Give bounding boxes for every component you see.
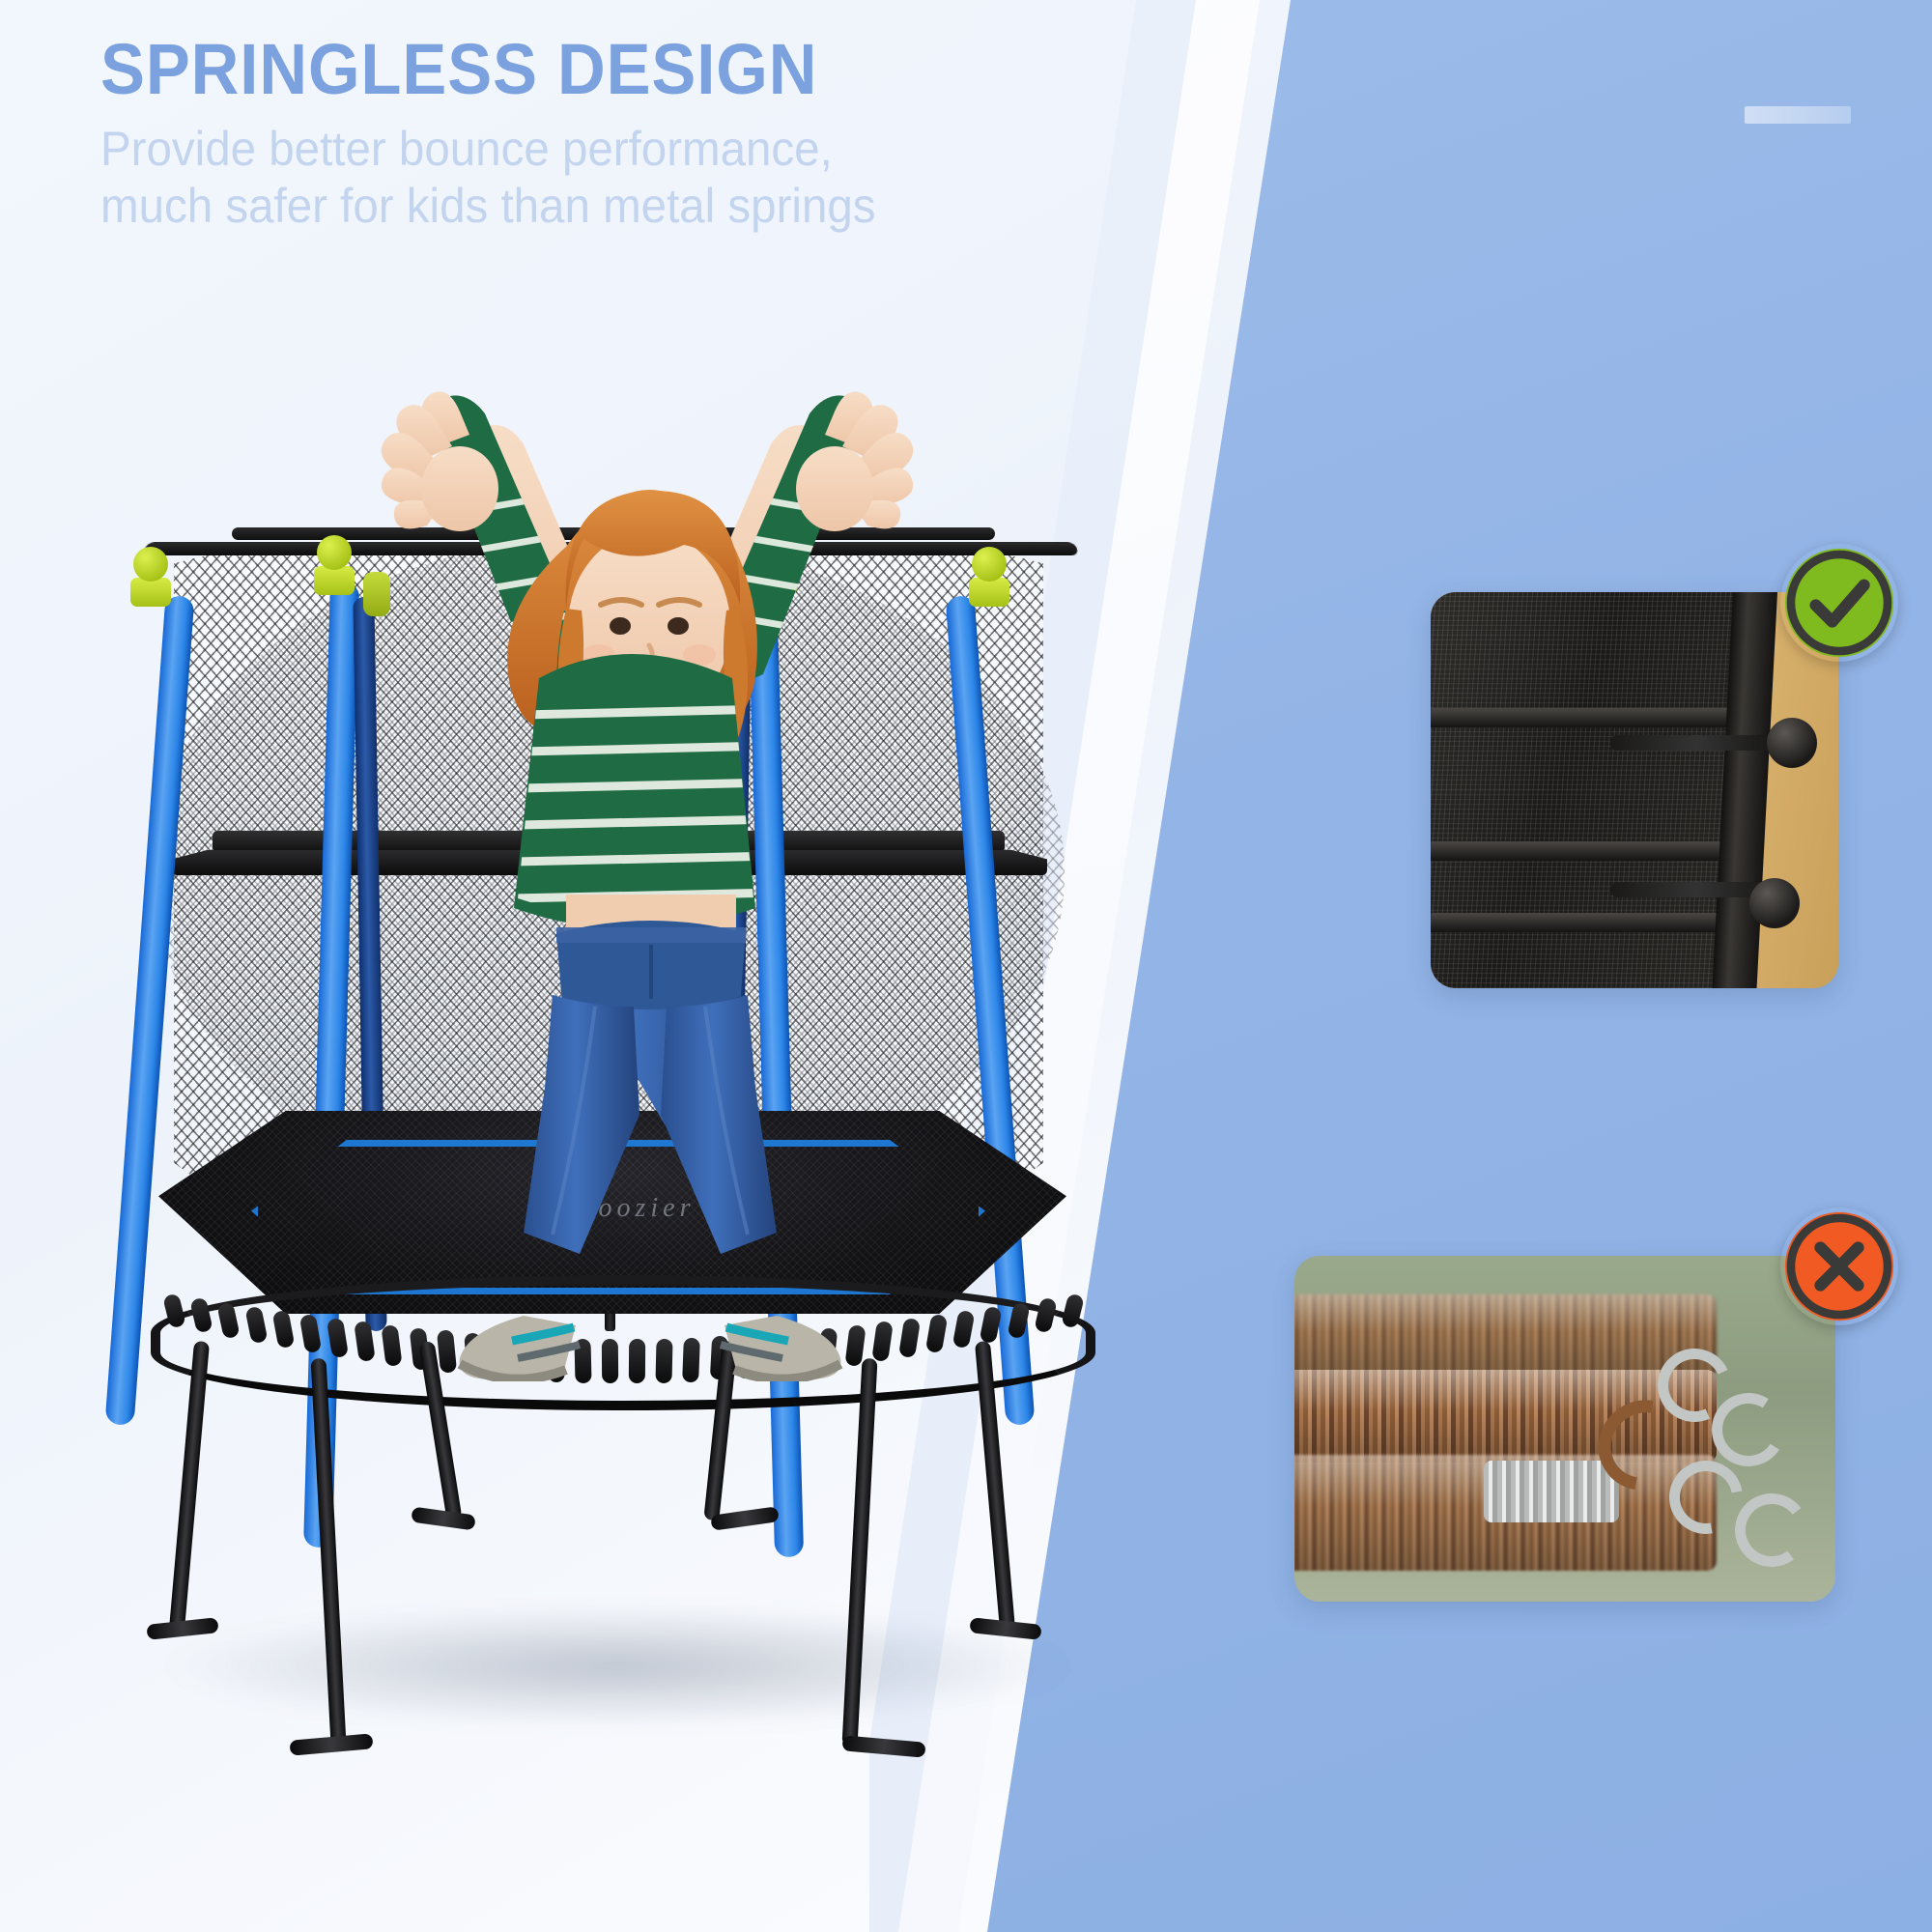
inset-bad-spring-row-1	[1294, 1294, 1717, 1378]
bungee-cord	[189, 1297, 213, 1334]
cross-badge	[1780, 1207, 1898, 1325]
inset-photo-good-artwork	[1431, 592, 1838, 988]
inset-good-mesh-fold-3	[1431, 913, 1757, 932]
bungee-cord	[244, 1306, 268, 1345]
child-model-jumping	[377, 319, 918, 1381]
child-right-shoe	[721, 1316, 840, 1379]
leg-2-foot	[289, 1733, 373, 1755]
check-icon	[1780, 544, 1898, 662]
bungee-cord	[952, 1310, 976, 1350]
inset-photo-springless-attachment	[1431, 592, 1838, 988]
inset-bad-silver-spring	[1484, 1461, 1619, 1522]
bungee-cord	[980, 1306, 1003, 1345]
child-left-shoe	[460, 1316, 580, 1379]
inset-good-mesh-fold-1	[1431, 708, 1757, 727]
pole-collar-1	[130, 578, 171, 607]
bungee-cord	[925, 1314, 948, 1354]
pole-collar-2	[314, 566, 355, 595]
subtitle-line-1: Provide better bounce performance,	[100, 121, 1248, 178]
inset-photo-rusty-springs	[1294, 1256, 1835, 1602]
leg-3-foot	[411, 1506, 476, 1530]
check-badge	[1780, 544, 1898, 662]
bungee-cord	[327, 1318, 349, 1359]
child-jeans	[524, 921, 777, 1254]
accent-dash-decoration	[1745, 106, 1851, 124]
pole-cap-ball-4	[972, 547, 1007, 582]
leg-5-foot	[841, 1735, 925, 1757]
page-title: SPRINGLESS DESIGN	[100, 33, 1224, 107]
bungee-cord	[1034, 1297, 1058, 1334]
inset-photo-bad-artwork	[1294, 1256, 1835, 1602]
bungee-cord	[162, 1293, 186, 1328]
header-block: SPRINGLESS DESIGN Provide better bounce …	[100, 33, 1308, 235]
inset-good-bungee-cord-1	[1610, 735, 1784, 751]
bungee-cord	[217, 1301, 241, 1339]
inset-good-ball-stopper-1	[1767, 718, 1817, 768]
cross-icon	[1780, 1207, 1898, 1325]
inset-good-ball-stopper-2	[1749, 878, 1800, 928]
leg-4-foot	[710, 1506, 780, 1531]
bungee-cord	[299, 1314, 322, 1354]
bungee-cord	[354, 1321, 376, 1362]
page-subtitle: Provide better bounce performance, much …	[100, 121, 1248, 235]
subtitle-line-2: much safer for kids than metal springs	[100, 178, 1248, 235]
bungee-cord	[1007, 1301, 1030, 1339]
pole-cap-ball-2	[317, 535, 352, 570]
bungee-cord	[271, 1310, 295, 1350]
product-trampoline: Soozier	[58, 406, 1198, 1913]
marketing-banner: SPRINGLESS DESIGN Provide better bounce …	[0, 0, 1932, 1932]
pole-collar-4	[969, 578, 1009, 607]
product-ground-shadow	[145, 1604, 1092, 1729]
pole-cap-ball-1	[133, 547, 168, 582]
inset-good-mesh-fold-2	[1431, 841, 1757, 861]
